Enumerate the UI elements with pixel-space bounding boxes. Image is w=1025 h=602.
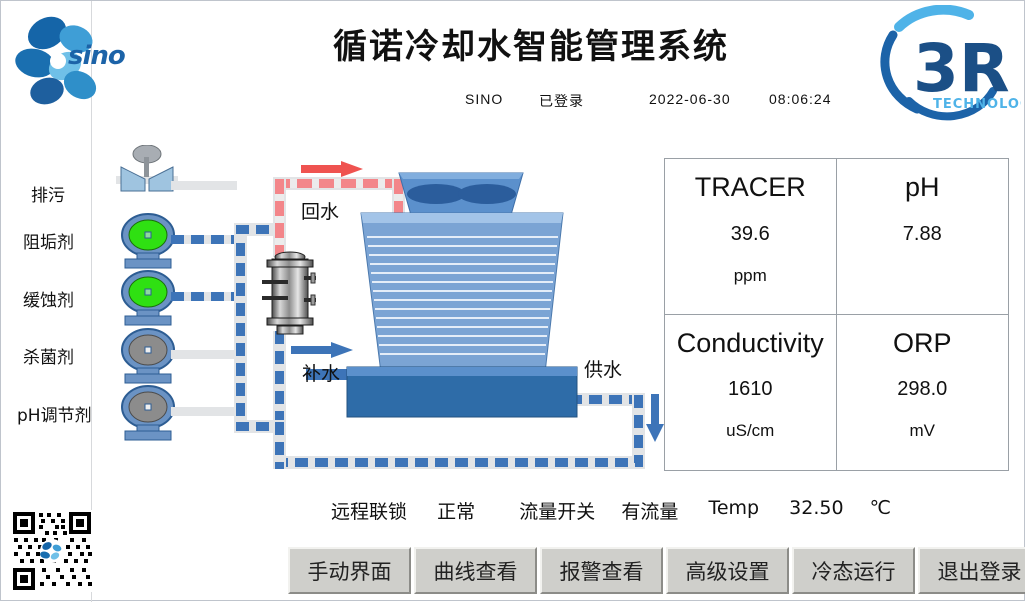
cold-start-button[interactable]: 冷态运行 [792,547,915,594]
logout-button[interactable]: 退出登录 [918,547,1025,594]
equipment-label-biocide: 杀菌剂 [23,343,74,368]
measurement-tracer-name: TRACER [695,173,806,203]
measurement-panel: TRACER 39.6 ppm pH 7.88 Conductivity 161… [664,158,1009,471]
svg-text:3R: 3R [913,30,1010,107]
system-date: 2022-06-30 [649,91,731,107]
cooling-tower-graphic [337,167,587,421]
qr-code [11,510,93,592]
trend-view-button[interactable]: 曲线查看 [414,547,537,594]
temperature-label: Temp [708,497,759,519]
remote-interlock-value: 正常 [437,497,475,524]
supply-water-down-line [634,395,643,463]
sino-wordmark: sino [68,41,125,71]
measurement-ph: pH 7.88 [837,159,1009,315]
measurement-tracer-value: 39.6 [731,223,770,246]
system-time: 08:06:24 [769,91,832,107]
main-loop-left-line [275,422,284,469]
equipment-label-blowdown: 排污 [31,181,65,206]
biocide-dosing-line [171,350,237,359]
page-title: 循诺冷却水智能管理系统 [251,19,811,68]
login-user: SINO [465,91,503,107]
measurement-conductivity-unit: uS/cm [726,421,774,441]
button-bar: 手动界面 曲线查看 报警查看 高级设置 冷态运行 退出登录 [288,547,1025,594]
measurement-tracer-unit: ppm [734,266,767,286]
main-loop-bottom-line [275,458,643,467]
hmi-screen: sino 循诺冷却水智能管理系统 SINO 已登录 2022-06-30 08:… [0,0,1025,601]
manual-interface-button[interactable]: 手动界面 [288,547,411,594]
measurement-ph-name: pH [905,173,940,203]
login-info-bar: SINO 已登录 2022-06-30 08:06:24 [421,91,881,113]
water-analyzer-icon[interactable] [259,248,321,336]
antiscalant-pump-icon[interactable] [119,213,177,269]
blowdown-line [171,181,237,190]
flow-switch-value: 有流量 [621,497,678,524]
antiscalant-dosing-line [171,235,237,244]
return-water-left-line [275,179,284,257]
measurement-conductivity-name: Conductivity [677,329,824,359]
flow-switch-label: 流量开关 [519,497,595,524]
ph-adjuster-dosing-line [171,407,237,416]
supply-water-label: 供水 [584,355,622,382]
measurement-orp-value: 298.0 [897,378,947,401]
measurement-ph-value: 7.88 [903,223,942,246]
equipment-label-corrosion-inhibitor: 缓蚀剂 [23,286,74,311]
sino-logo: sino [13,11,143,111]
equipment-label-antiscalant: 阻垢剂 [23,228,74,253]
biocide-pump-icon[interactable] [119,328,177,384]
header-bar: sino 循诺冷却水智能管理系统 SINO 已登录 2022-06-30 08:… [1,1,1024,129]
measurement-orp-unit: mV [910,421,936,441]
remote-interlock-label: 远程联锁 [331,497,407,524]
3r-technology-logo: 3R TECHNOLOGY [873,5,1021,123]
corrosion-inhibitor-pump-icon[interactable] [119,270,177,326]
temperature-unit: ℃ [870,497,891,519]
return-water-label: 回水 [301,197,339,224]
svg-text:TECHNOLOGY: TECHNOLOGY [933,97,1021,112]
corrosion-inhibitor-dosing-line [171,292,237,301]
measurement-conductivity: Conductivity 1610 uS/cm [665,315,837,471]
measurement-conductivity-value: 1610 [728,378,773,401]
supply-water-arrow-icon [645,394,665,447]
measurement-orp-name: ORP [893,329,952,359]
alarm-view-button[interactable]: 报警查看 [540,547,663,594]
advanced-settings-button[interactable]: 高级设置 [666,547,789,594]
blowdown-valve-icon[interactable] [116,145,178,201]
status-row: 远程联锁 正常 流量开关 有流量 Temp 32.50 ℃ [331,497,891,527]
measurement-tracer: TRACER 39.6 ppm [665,159,837,315]
login-status: 已登录 [539,91,584,111]
equipment-label-ph-adjuster: pH调节剂 [17,401,92,426]
ph-adjuster-pump-icon[interactable] [119,385,177,441]
temperature-value: 32.50 [789,497,843,519]
dosing-riser-line [236,223,245,431]
fan-blade-right [458,184,516,204]
measurement-orp: ORP 298.0 mV [837,315,1009,471]
fan-blade-left [407,184,465,204]
analyzer-outlet-line [275,331,284,431]
makeup-water-label: 补水 [302,359,340,386]
